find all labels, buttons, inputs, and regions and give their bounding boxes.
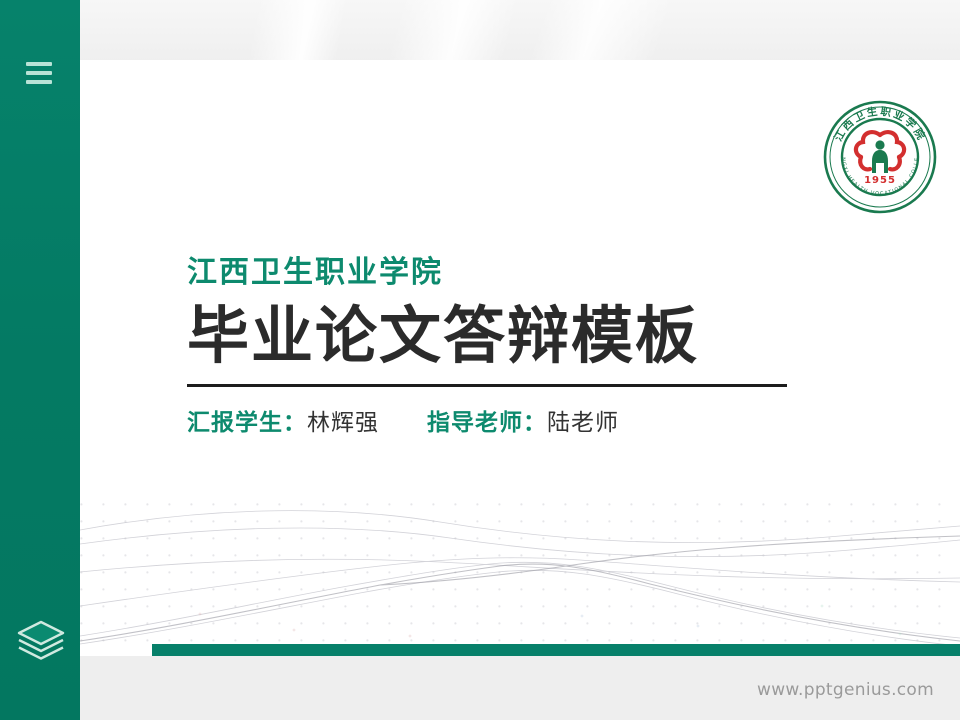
hamburger-bar [26,80,52,84]
svg-text:1955: 1955 [864,175,896,186]
advisor-label: 指导老师： [427,410,547,436]
footer-bar: www.pptgenius.com [0,656,960,720]
page-title: 毕业论文答辩模板 [187,303,907,370]
slide-content-card: 江西卫生职业学院 JIANGXI HEALTH VOCATIONAL COLLE… [80,60,960,656]
bottom-accent-bar [152,644,960,656]
student-field: 汇报学生：林辉强 [187,410,379,438]
student-value: 林辉强 [307,410,379,436]
advisor-field: 指导老师：陆老师 [427,410,619,438]
title-divider-rule [187,384,787,387]
top-streak-band [80,0,960,62]
hamburger-bar [26,62,52,66]
presentation-slide: 江西卫生职业学院 JIANGXI HEALTH VOCATIONAL COLLE… [0,0,960,720]
layers-stack-icon[interactable] [16,618,66,662]
left-sidebar [0,0,80,720]
hamburger-bar [26,71,52,75]
dotted-wave-mesh-decoration [80,486,960,656]
student-label: 汇报学生： [187,410,307,436]
title-text-block: 江西卫生职业学院 毕业论文答辩模板 汇报学生：林辉强 指导老师：陆老师 [187,256,907,438]
college-logo-seal: 江西卫生职业学院 JIANGXI HEALTH VOCATIONAL COLLE… [822,99,938,215]
college-name: 江西卫生职业学院 [187,256,907,289]
advisor-value: 陆老师 [547,410,619,436]
people-row: 汇报学生：林辉强 指导老师：陆老师 [187,410,907,438]
hamburger-menu-icon[interactable] [26,62,54,84]
footer-watermark-url: www.pptgenius.com [757,680,934,700]
